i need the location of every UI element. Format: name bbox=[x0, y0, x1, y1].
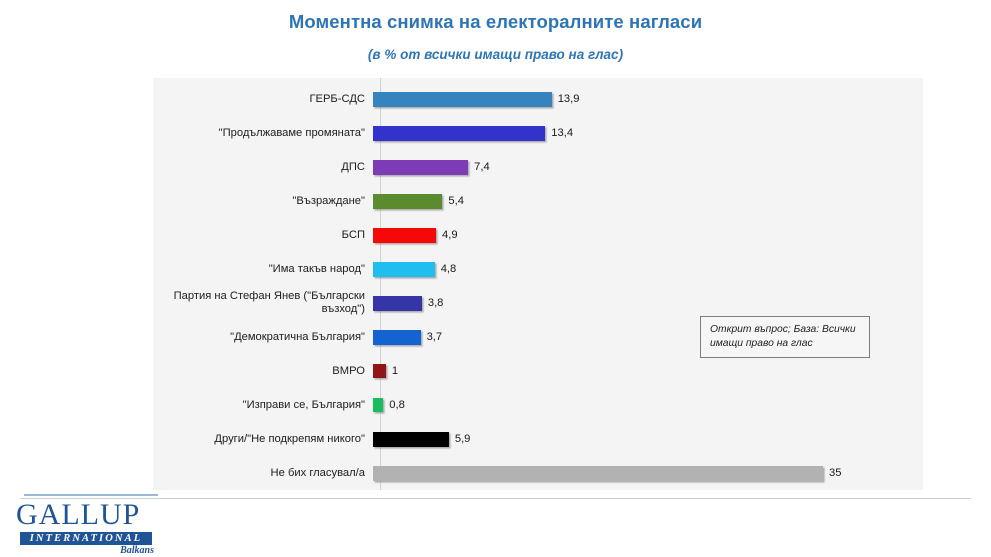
bar-track: 0,8 bbox=[373, 388, 923, 422]
bar-track: 1 bbox=[373, 354, 923, 388]
bar-track: 13,9 bbox=[373, 82, 923, 116]
bar-value-label: 5,4 bbox=[448, 195, 464, 207]
bar-track: 7,4 bbox=[373, 150, 923, 184]
bar-row: ДПС7,4 bbox=[153, 150, 923, 184]
chart-plot-area: ГЕРБ-СДС13,9"Продължаваме промяната"13,4… bbox=[153, 78, 923, 490]
bar-value-label: 5,9 bbox=[455, 433, 471, 445]
bar-category-label: Други/"Не подкрепям никого" bbox=[153, 433, 373, 446]
logo-region-text: Balkans bbox=[8, 545, 154, 556]
bar-track: 35 bbox=[373, 456, 923, 490]
footer-divider bbox=[20, 498, 971, 499]
bar-category-label: ВМРО bbox=[153, 365, 373, 378]
bar-category-label: "Изправи се, България" bbox=[153, 399, 373, 412]
logo-rule-thick bbox=[24, 494, 158, 496]
bar-row: Партия на Стефан Янев ("Български възход… bbox=[153, 286, 923, 320]
note-text: Открит въпрос; База: Всички имащи право … bbox=[710, 324, 856, 349]
bar[interactable] bbox=[373, 126, 545, 141]
bar-row: "Има такъв народ"4,8 bbox=[153, 252, 923, 286]
bar-value-label: 0,8 bbox=[389, 399, 405, 411]
bar-track: 5,4 bbox=[373, 184, 923, 218]
bar[interactable] bbox=[373, 330, 421, 345]
logo-wordmark: GALLUP bbox=[16, 499, 158, 531]
bar-category-label: ГЕРБ-СДС bbox=[153, 93, 373, 106]
bar-row: БСП4,9 bbox=[153, 218, 923, 252]
page-subtitle: (в % от всички имащи право на глас) bbox=[0, 47, 991, 62]
bar[interactable] bbox=[373, 92, 552, 107]
bar-category-label: БСП bbox=[153, 229, 373, 242]
bar[interactable] bbox=[373, 364, 386, 378]
bar-row: ГЕРБ-СДС13,9 bbox=[153, 82, 923, 116]
bar-row: "Изправи се, България"0,8 bbox=[153, 388, 923, 422]
bar-track: 3,8 bbox=[373, 286, 923, 320]
bar-track: 5,9 bbox=[373, 422, 923, 456]
bar[interactable] bbox=[373, 466, 823, 481]
gallup-logo: GALLUP INTERNATIONAL Balkans bbox=[8, 494, 158, 556]
bar-value-label: 13,9 bbox=[558, 93, 580, 105]
bar[interactable] bbox=[373, 398, 383, 412]
logo-international-bar: INTERNATIONAL bbox=[20, 532, 152, 545]
bar-value-label: 7,4 bbox=[474, 161, 490, 173]
bar-value-label: 1 bbox=[392, 365, 398, 377]
bar-category-label: "Възраждане" bbox=[153, 195, 373, 208]
bar-track: 4,9 bbox=[373, 218, 923, 252]
bar-row: Не бих гласувал/а35 bbox=[153, 456, 923, 490]
bar-category-label: ДПС bbox=[153, 161, 373, 174]
bar[interactable] bbox=[373, 194, 442, 209]
bar-row: "Продължаваме промяната"13,4 bbox=[153, 116, 923, 150]
bar-category-label: Партия на Стефан Янев ("Български възход… bbox=[153, 290, 373, 316]
bar-category-label: "Демократична България" bbox=[153, 331, 373, 344]
bar[interactable] bbox=[373, 432, 449, 447]
bar-value-label: 4,8 bbox=[441, 263, 457, 275]
page-title: Моментна снимка на електоралните нагласи bbox=[0, 11, 991, 33]
bar-value-label: 4,9 bbox=[442, 229, 458, 241]
bar-value-label: 35 bbox=[829, 467, 841, 479]
bar[interactable] bbox=[373, 228, 436, 243]
bar-category-label: "Има такъв народ" bbox=[153, 263, 373, 276]
logo-international-text: INTERNATIONAL bbox=[20, 532, 152, 545]
bar-value-label: 13,4 bbox=[551, 127, 573, 139]
bar-value-label: 3,7 bbox=[427, 331, 443, 343]
bar-category-label: Не бих гласувал/а bbox=[153, 467, 373, 480]
bar-row: ВМРО1 bbox=[153, 354, 923, 388]
bar[interactable] bbox=[373, 262, 435, 277]
bar[interactable] bbox=[373, 160, 468, 175]
bar-track: 13,4 bbox=[373, 116, 923, 150]
bar-row: Други/"Не подкрепям никого"5,9 bbox=[153, 422, 923, 456]
bar-track: 4,8 bbox=[373, 252, 923, 286]
bar-category-label: "Продължаваме промяната" bbox=[153, 127, 373, 140]
bar-value-label: 3,8 bbox=[428, 297, 444, 309]
note-box: Открит въпрос; База: Всички имащи право … bbox=[700, 316, 870, 358]
bar[interactable] bbox=[373, 296, 422, 311]
bar-row: "Възраждане"5,4 bbox=[153, 184, 923, 218]
